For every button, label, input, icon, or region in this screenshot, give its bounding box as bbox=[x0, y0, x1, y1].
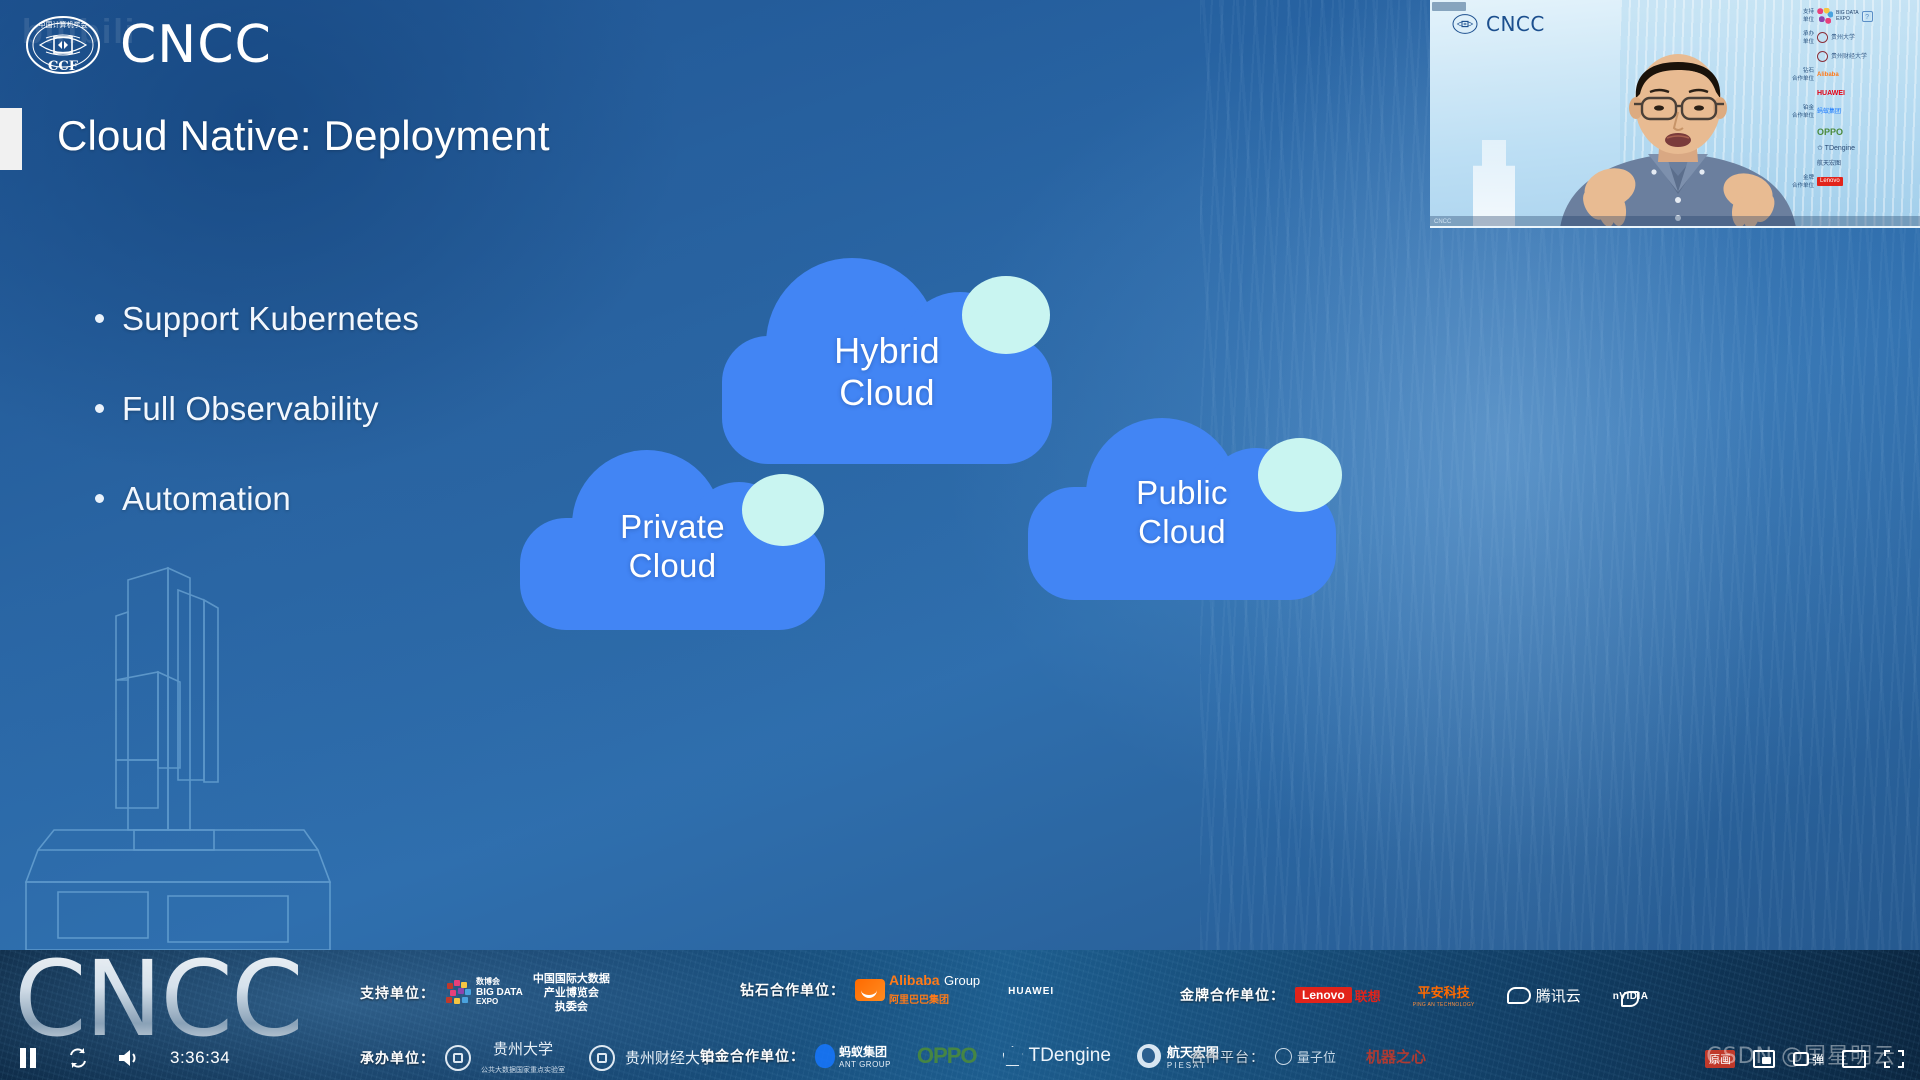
huawei-label: HUAWEI bbox=[1817, 89, 1845, 100]
ant-group-label: 蚂蚁集团 bbox=[1817, 108, 1841, 117]
lenovo-label: Lenovo bbox=[1817, 177, 1843, 186]
cloud-shape-public: Public Cloud bbox=[1028, 418, 1336, 600]
player-controls-right[interactable]: 原画 弹 bbox=[1705, 1050, 1904, 1068]
university-seal-icon bbox=[1817, 51, 1828, 62]
webcam-sponsor-label: 支持单位 bbox=[1792, 8, 1814, 25]
quality-selector[interactable]: 原画 bbox=[1705, 1050, 1735, 1068]
webcam-sponsor-row: 贵州财经大学 bbox=[1792, 51, 1912, 62]
tencent-cloud-mark-icon bbox=[1507, 987, 1531, 1004]
ccf-emblem-icon bbox=[1452, 13, 1478, 35]
piesat-mark-icon bbox=[1137, 1044, 1161, 1068]
speaker-webcam-panel[interactable]: CNCC 支持单位 BIG DATAEXPO ? 承办单位 贵州大学 贵州财经大… bbox=[1430, 0, 1920, 228]
pingan-technology-logo: 平安科技 PING AN TECHNOLOGY bbox=[1413, 982, 1475, 1008]
nvidia-logo: nVIDIA bbox=[1613, 986, 1649, 1004]
tdengine-logo: TDengine bbox=[1003, 1045, 1111, 1067]
lenovo-logo: Lenovo 联想 bbox=[1295, 986, 1381, 1005]
webcam-sponsor-row: 金牌合作单位 Lenovo bbox=[1792, 174, 1912, 191]
webcam-tower-decoration bbox=[1464, 140, 1524, 226]
sponsor-row-label: 金牌合作单位： bbox=[1180, 985, 1285, 1005]
help-icon: ? bbox=[1862, 11, 1873, 22]
sponsor-row-label: 承办单位： bbox=[360, 1048, 435, 1068]
bullet-dot-icon bbox=[95, 494, 104, 503]
list-item: Full Observability bbox=[95, 390, 419, 428]
sponsor-grid: 支持单位： 数博会 BIG DAT bbox=[300, 950, 1920, 1080]
sponsor-row-label: 钻石合作单位： bbox=[740, 980, 845, 1000]
big-data-expo-label: BIG DATAEXPO bbox=[1836, 10, 1859, 22]
list-item: Automation bbox=[95, 480, 419, 518]
alibaba-mark-icon bbox=[855, 979, 885, 1001]
webcam-brand-logo: CNCC bbox=[1452, 12, 1545, 36]
webcam-sponsor-row: ✩ TDengine bbox=[1792, 144, 1912, 155]
danmaku-icon bbox=[1793, 1052, 1809, 1066]
university-seal-icon bbox=[589, 1045, 615, 1071]
pause-icon[interactable] bbox=[16, 1046, 40, 1070]
alibaba-label: Alibaba bbox=[1817, 71, 1839, 80]
big-data-expo-cn-label: 中国国际大数据 产业博览会 执委会 bbox=[533, 972, 610, 1013]
cloud-shape-private: Private Cloud bbox=[520, 450, 825, 630]
svg-text:CCF: CCF bbox=[48, 59, 79, 74]
sponsor-row-label: 铂金合作单位： bbox=[700, 1046, 805, 1066]
webcam-sponsor-column: 支持单位 BIG DATAEXPO ? 承办单位 贵州大学 贵州财经大学 钻石合… bbox=[1792, 8, 1912, 195]
cloud-label: Public Cloud bbox=[1028, 474, 1336, 552]
volume-icon[interactable] bbox=[116, 1046, 140, 1070]
university-seal-icon bbox=[445, 1045, 471, 1071]
cloud-shape-hybrid: Hybrid Cloud bbox=[722, 258, 1052, 464]
cloud-label: Private Cloud bbox=[520, 508, 825, 586]
sponsor-row-platinum: 铂金合作单位： 蚂蚁集团 ANT GROUP OPPO TDengine bbox=[700, 1042, 1219, 1070]
sponsor-row-gold: 金牌合作单位： Lenovo 联想 平安科技 PING AN TECHNOLOG… bbox=[1180, 982, 1648, 1008]
webcam-sponsor-row: 铂金合作单位 蚂蚁集团 bbox=[1792, 104, 1912, 121]
speaker-video bbox=[1548, 42, 1808, 228]
title-accent-tab bbox=[0, 108, 22, 170]
sponsor-row-platforms: 合作平台： 量子位 机器之心 bbox=[1190, 1046, 1426, 1067]
qbitai-mark-icon bbox=[1275, 1048, 1292, 1065]
bullet-label: Full Observability bbox=[122, 390, 379, 428]
player-sponsor-bar: CNCC 3:36:34 bbox=[0, 950, 1920, 1080]
big-data-expo-icon bbox=[1817, 8, 1833, 24]
webcam-sponsor-row: OPPO bbox=[1792, 126, 1912, 140]
picture-in-picture-icon[interactable] bbox=[1753, 1050, 1775, 1068]
cncc-wordmark: CNCC bbox=[120, 19, 272, 71]
bullet-dot-icon bbox=[95, 314, 104, 323]
alibaba-group-logo: Alibaba Group 阿里巴巴集团 bbox=[855, 972, 980, 1008]
tencent-cloud-logo: 腾讯云 bbox=[1507, 985, 1581, 1006]
qbitai-logo: 量子位 bbox=[1275, 1047, 1336, 1066]
tdengine-label: ✩ TDengine bbox=[1817, 144, 1855, 155]
cloud-label: Hybrid Cloud bbox=[722, 330, 1052, 415]
cncc-bottom-wordmark: CNCC bbox=[14, 950, 302, 1060]
webcam-bottom-label: CNCC bbox=[1434, 219, 1451, 225]
svg-text:中国计算机学会: 中国计算机学会 bbox=[39, 20, 88, 29]
guizhou-finance-university-label: 贵州财经大学 bbox=[1831, 52, 1867, 61]
webcam-bottom-strip bbox=[1430, 216, 1920, 226]
university-seal-icon bbox=[1817, 32, 1828, 43]
partner-red-logo: 机器之心 bbox=[1366, 1046, 1426, 1067]
sponsor-row-organizing: 承办单位： 贵州大学 公共大数据国家重点实验室 贵州财经大学 bbox=[360, 1038, 715, 1077]
big-data-expo-icon bbox=[445, 980, 471, 1006]
ant-group-mark-icon bbox=[815, 1044, 835, 1068]
bullet-label: Support Kubernetes bbox=[122, 300, 419, 338]
video-player-page: bilibili CCF 中国计算机学会 CNCC bbox=[0, 0, 1920, 1080]
sponsor-row-diamond: 钻石合作单位： Alibaba Group 阿里巴巴集团 HUAWEI bbox=[740, 972, 1054, 1008]
sponsor-row-label: 支持单位： bbox=[360, 983, 435, 1003]
piesat-label: 航天宏图 bbox=[1817, 160, 1841, 169]
tower-wireframe-decoration bbox=[18, 530, 348, 950]
fullscreen-icon[interactable] bbox=[1884, 1050, 1904, 1068]
widescreen-icon[interactable] bbox=[1842, 1050, 1866, 1068]
huawei-logo: HUAWEI bbox=[1008, 981, 1054, 999]
webcam-sponsor-row: 支持单位 BIG DATAEXPO ? bbox=[1792, 8, 1912, 25]
slide-brand-logo: CCF 中国计算机学会 CNCC bbox=[24, 14, 272, 76]
webcam-corner-tab bbox=[1432, 2, 1466, 11]
ccf-emblem-icon: CCF 中国计算机学会 bbox=[24, 14, 102, 76]
webcam-sponsor-row: 航天宏图 bbox=[1792, 160, 1912, 169]
webcam-sponsor-row: 钻石合作单位 Alibaba bbox=[1792, 67, 1912, 84]
webcam-sponsor-row: HUAWEI bbox=[1792, 89, 1912, 100]
webcam-cncc-wordmark: CNCC bbox=[1486, 12, 1545, 36]
big-data-expo-logo: 数博会 BIG DATA EXPO bbox=[445, 978, 523, 1007]
guizhou-university-label: 贵州大学 bbox=[1831, 33, 1855, 42]
bullet-label: Automation bbox=[122, 480, 291, 518]
ant-group-logo: 蚂蚁集团 ANT GROUP bbox=[815, 1043, 891, 1069]
playback-timecode: 3:36:34 bbox=[170, 1048, 230, 1068]
sponsor-row-label: 合作平台： bbox=[1190, 1047, 1265, 1067]
webcam-sponsor-row: 承办单位 贵州大学 bbox=[1792, 30, 1912, 47]
tdengine-mark-icon bbox=[1003, 1046, 1023, 1066]
danmaku-toggle[interactable]: 弹 bbox=[1793, 1051, 1824, 1068]
big-data-expo-wordmark: 数博会 BIG DATA EXPO bbox=[476, 978, 523, 1007]
oppo-logo: OPPO bbox=[917, 1043, 977, 1069]
loop-icon[interactable] bbox=[66, 1046, 90, 1070]
list-item: Support Kubernetes bbox=[95, 300, 419, 338]
player-controls-left[interactable]: 3:36:34 bbox=[16, 1046, 230, 1070]
slide-title: Cloud Native: Deployment bbox=[57, 112, 550, 160]
oppo-label: OPPO bbox=[1817, 126, 1843, 140]
guizhou-university-logo: 贵州大学 公共大数据国家重点实验室 bbox=[481, 1038, 565, 1077]
sponsor-row-supporting: 支持单位： 数博会 BIG DAT bbox=[360, 972, 610, 1013]
bullet-list: Support Kubernetes Full Observability Au… bbox=[95, 300, 419, 570]
bullet-dot-icon bbox=[95, 404, 104, 413]
